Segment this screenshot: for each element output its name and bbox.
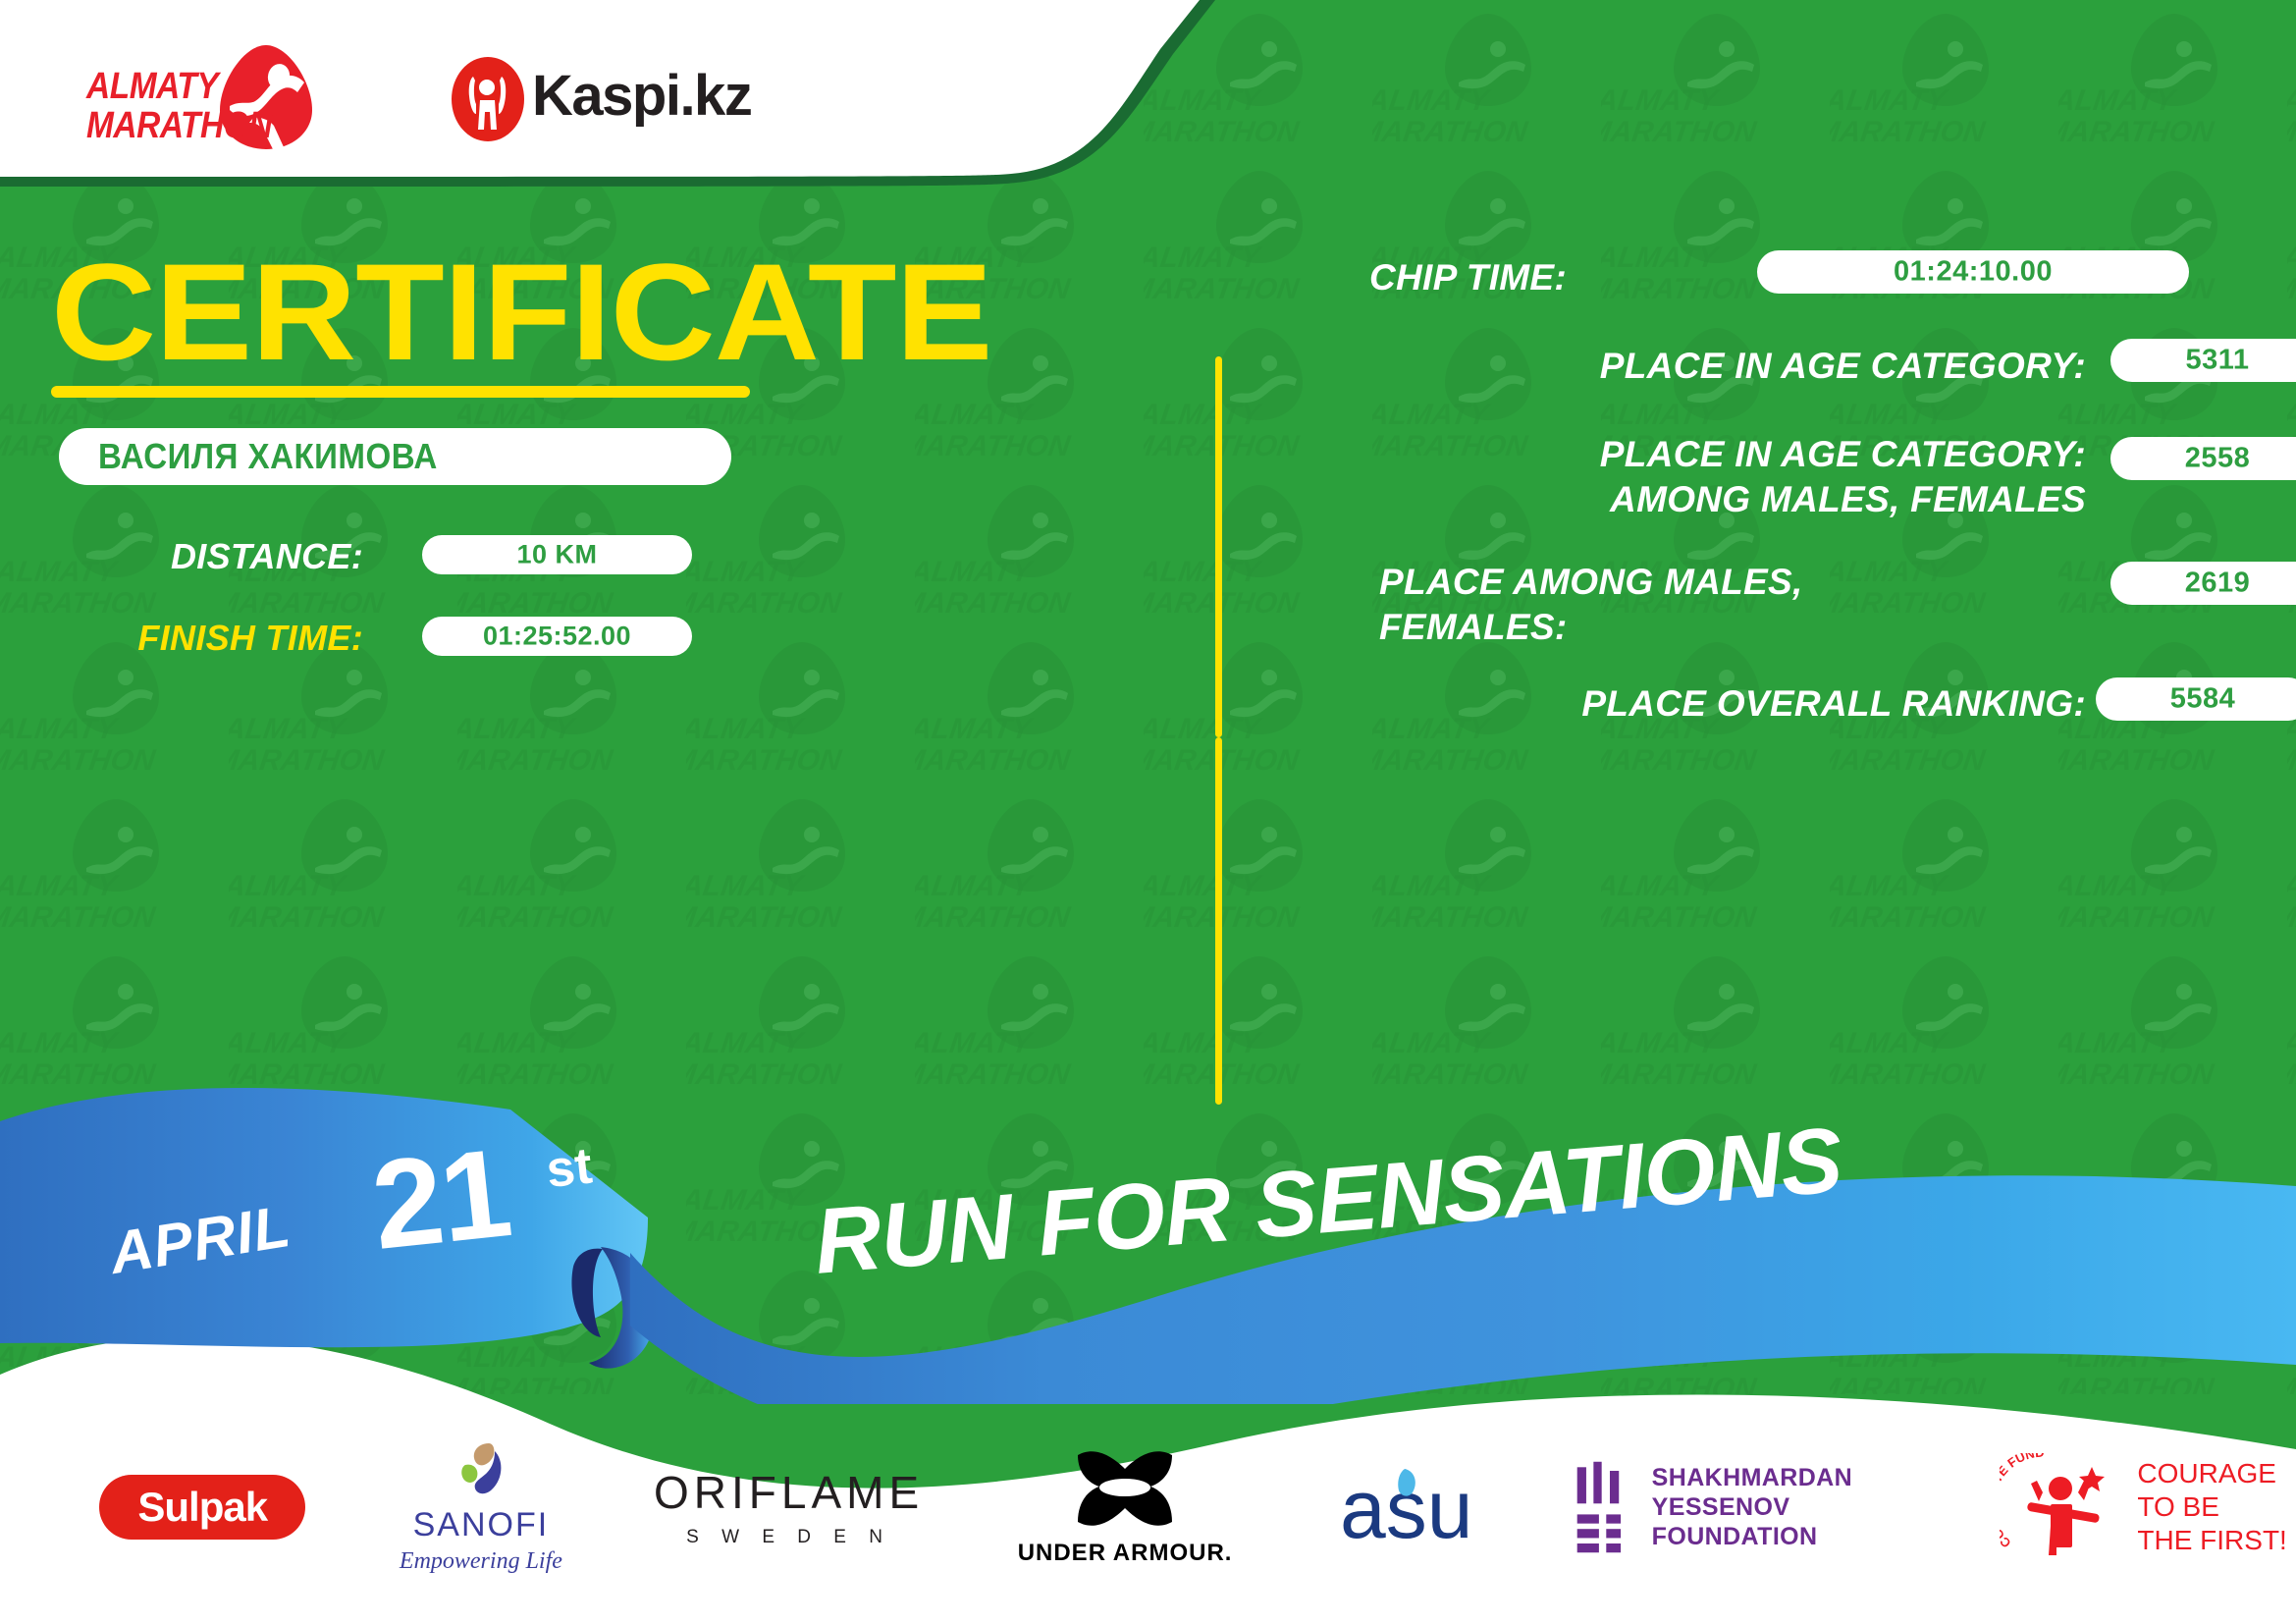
- result-value-pill: 5311: [2110, 339, 2296, 382]
- oriflame-subtext: S W E D E N: [686, 1527, 891, 1548]
- finish-time-value-pill: 01:25:52.00: [422, 617, 692, 656]
- finish-time-row: FINISH TIME: 01:25:52.00: [0, 617, 913, 660]
- kaspi-wordmark: Kaspi.kz: [532, 63, 751, 129]
- result-value-pill: 5584: [2096, 677, 2296, 721]
- distance-value-pill: 10 KM: [422, 535, 692, 574]
- result-value-pill: 01:24:10.00: [1757, 250, 2189, 294]
- left-column: CERTIFICATE ВАСИЛЯ ХАКИМОВА DISTANCE: 10…: [0, 196, 1217, 1100]
- sponsor-sulpak: Sulpak: [64, 1434, 342, 1581]
- under-armour-icon: [1066, 1447, 1184, 1534]
- distance-row: DISTANCE: 10 KM: [0, 535, 913, 578]
- sponsor-under-armour: UNDER ARMOUR.: [987, 1434, 1264, 1581]
- certificate-canvas: ALMATY MARATHON: [0, 0, 2296, 1624]
- title-underline: [51, 386, 750, 398]
- asu-logo-icon: asu: [1340, 1463, 1526, 1551]
- almaty-marathon-logo: ALMATY MARATHON: [86, 41, 312, 151]
- yessenov-mark-icon: [1574, 1458, 1629, 1556]
- ribbon-day-suffix: st: [544, 1136, 595, 1200]
- result-value: 2558: [2185, 443, 2251, 475]
- finish-time-label: FINISH TIME:: [137, 618, 363, 659]
- wordmark-line-2: MARATHON: [86, 106, 241, 145]
- sponsor-asu: asu: [1322, 1434, 1544, 1581]
- kaspi-person-icon: [452, 57, 524, 141]
- sponsor-courage-to-be-the-first: CORPORATE FUND COURAGE TO BE THE FIRST!: [1991, 1434, 2296, 1581]
- sponsor-oriflame: ORIFLAME S W E D E N: [650, 1434, 928, 1581]
- yessenov-wordmark: SHAKHMARDAN YESSENOV FOUNDATION: [1652, 1463, 1972, 1551]
- wordmark-line-1: ALMATY: [86, 67, 241, 106]
- result-value-pill: 2619: [2110, 562, 2296, 605]
- vertical-divider-bottom: [1215, 737, 1222, 1105]
- almaty-marathon-wordmark: ALMATY MARATHON: [86, 67, 241, 145]
- result-label: PLACE OVERALL RANKING:: [1222, 681, 2086, 727]
- participant-name: ВАСИЛЯ ХАКИМОВА: [98, 436, 438, 477]
- ribbon-day: 21: [366, 1120, 516, 1278]
- result-value: 2619: [2185, 568, 2251, 600]
- finish-time-value: 01:25:52.00: [483, 622, 631, 652]
- results-column: CHIP TIME: 01:24:10.00 PLACE IN AGE CATE…: [1222, 196, 2296, 1119]
- result-value-pill: 2558: [2110, 437, 2296, 480]
- sponsor-sanofi: SANOFI Empowering Life: [361, 1434, 602, 1581]
- under-armour-wordmark: UNDER ARMOUR.: [1018, 1540, 1233, 1567]
- page-title: CERTIFICATE: [51, 244, 991, 381]
- distance-label: DISTANCE:: [171, 536, 363, 577]
- result-value: 5584: [2170, 683, 2236, 716]
- kaspi-logo: Kaspi.kz: [452, 57, 746, 141]
- logo-row: ALMATY MARATHON Kaspi.kz: [0, 0, 1276, 187]
- courage-fund-icon: CORPORATE FUND: [2000, 1453, 2127, 1561]
- sanofi-mark-icon: [450, 1439, 512, 1502]
- courage-wordmark: COURAGE TO BE THE FIRST!: [2137, 1457, 2286, 1557]
- result-label: CHIP TIME:: [1222, 255, 1831, 300]
- result-label: PLACE AMONG MALES, FEMALES:: [1222, 560, 2086, 650]
- oriflame-wordmark: ORIFLAME: [654, 1466, 924, 1519]
- sulpak-wordmark: Sulpak: [137, 1484, 267, 1531]
- sponsor-shakhmardan-yessenov: SHAKHMARDAN YESSENOV FOUNDATION: [1574, 1434, 1971, 1581]
- header-band: ALMATY MARATHON Kaspi.kz: [0, 0, 1276, 191]
- sanofi-tagline: Empowering Life: [400, 1548, 562, 1575]
- svg-text:CORPORATE FUND: CORPORATE FUND: [2000, 1453, 2045, 1550]
- sanofi-wordmark: SANOFI: [413, 1506, 550, 1544]
- result-label: PLACE IN AGE CATEGORY:: [1222, 344, 2086, 389]
- result-value: 01:24:10.00: [1894, 256, 2053, 289]
- result-value: 5311: [2186, 345, 2250, 377]
- sulpak-logo: Sulpak: [99, 1475, 305, 1540]
- vertical-divider-top: [1215, 356, 1222, 737]
- distance-value: 10 KM: [516, 540, 597, 570]
- participant-name-field: ВАСИЛЯ ХАКИМОВА: [59, 428, 731, 485]
- result-label: PLACE IN AGE CATEGORY: AMONG MALES, FEMA…: [1222, 432, 2086, 522]
- sponsor-bar: Sulpak SANOFI Empowering Life ORIFLAME S…: [0, 1414, 2296, 1600]
